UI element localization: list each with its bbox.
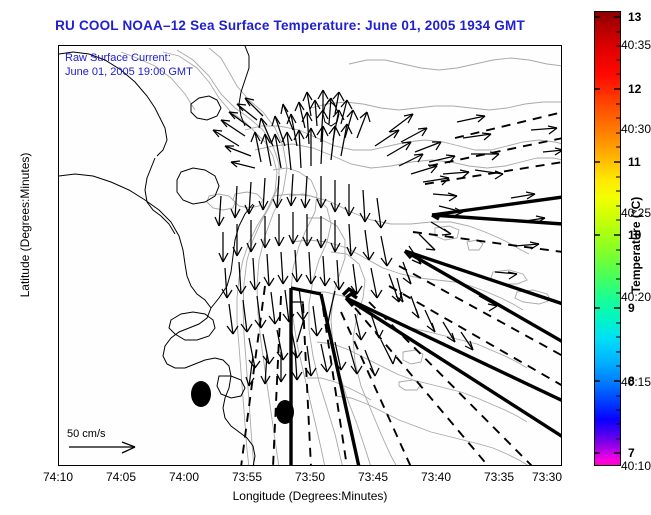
current-annotation-line1: Raw Surface Current: <box>65 51 193 65</box>
xtick-label: 73:35 <box>469 470 529 484</box>
figure-root: RU COOL NOAA–12 Sea Surface Temperature:… <box>0 0 651 515</box>
xtick-label: 73:30 <box>532 470 572 484</box>
xtick-label: 74:05 <box>91 470 151 484</box>
xtick-label: 73:45 <box>343 470 403 484</box>
current-annotation-line2: June 01, 2005 19:00 GMT <box>65 65 193 79</box>
xtick-label: 74:10 <box>28 470 88 484</box>
map-overlay-svg <box>59 46 562 466</box>
x-axis-label: Longitude (Degrees:Minutes) <box>58 489 562 503</box>
colorbar-ticks <box>595 12 620 464</box>
xtick-label: 73:40 <box>406 470 466 484</box>
colorbar-tick-label: 7 <box>628 446 650 460</box>
chart-title: RU COOL NOAA–12 Sea Surface Temperature:… <box>0 18 580 33</box>
current-quiver-vectors <box>213 90 562 386</box>
colorbar-tick-label: 13 <box>628 10 650 24</box>
bathymetry-contours <box>121 48 562 466</box>
scalebar-label: 50 cm/s <box>67 428 106 440</box>
xtick-label: 74:00 <box>154 470 214 484</box>
xtick-label: 73:55 <box>217 470 277 484</box>
colorbar-label: Temperature (°C) <box>629 165 643 325</box>
xtick-label: 73:50 <box>280 470 340 484</box>
current-annotation: Raw Surface Current: June 01, 2005 19:00… <box>65 51 193 79</box>
y-axis-label: Latitude (Degrees:Minutes) <box>18 105 32 345</box>
map-plot-area[interactable]: Raw Surface Current: June 01, 2005 19:00… <box>58 45 562 466</box>
colorbar-tick-label: 8 <box>628 374 650 388</box>
station-marker-2[interactable] <box>276 400 294 424</box>
station-marker-1[interactable] <box>191 381 211 407</box>
scalebar-arrow-icon <box>69 442 135 453</box>
colorbar[interactable] <box>594 11 621 466</box>
colorbar-tick-label: 12 <box>628 82 650 96</box>
